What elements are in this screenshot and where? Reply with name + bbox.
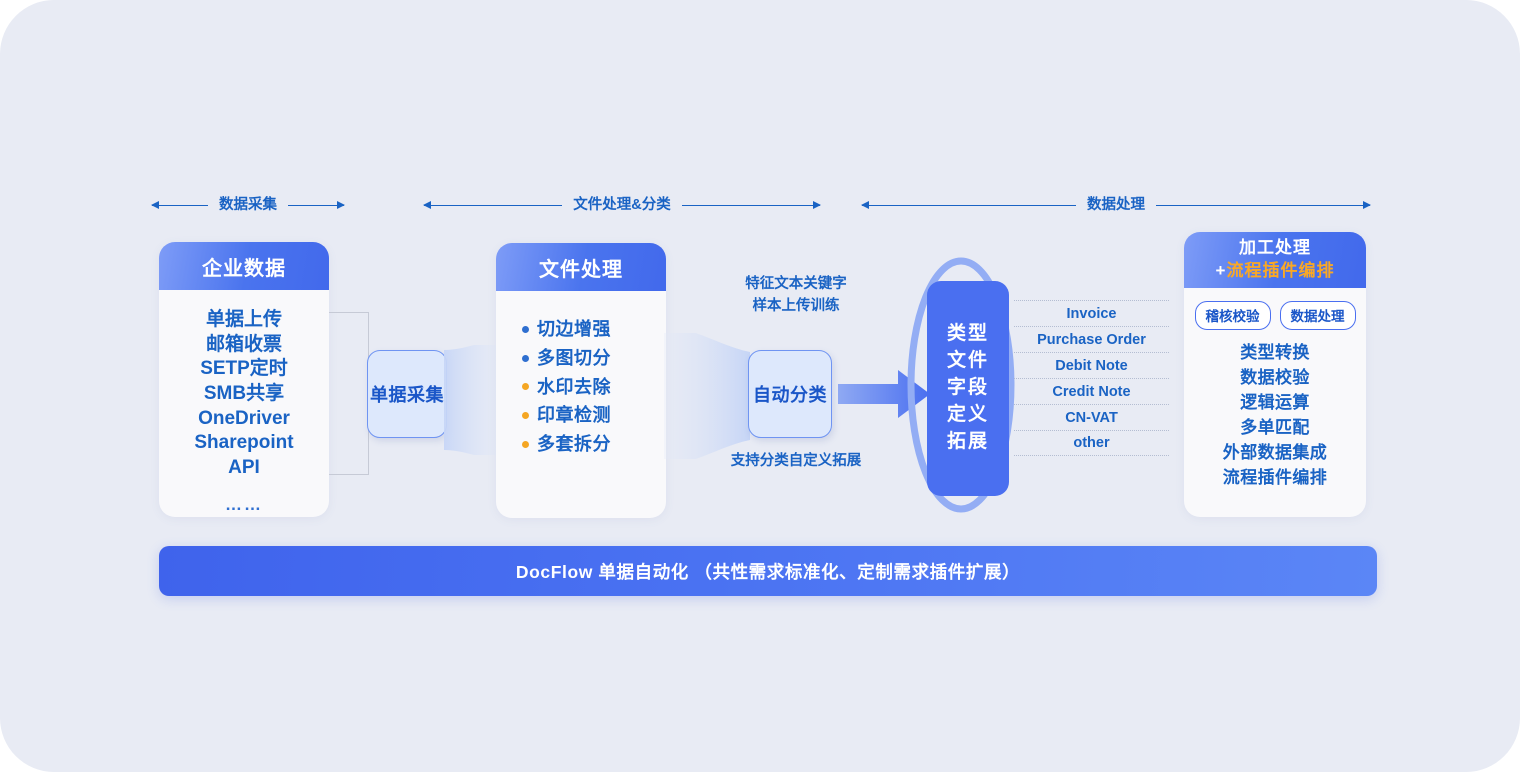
list-item: 数据校验 bbox=[1184, 366, 1366, 391]
classify-note-bottom: 支持分类自定义拓展 bbox=[716, 450, 876, 472]
node-auto-classification[interactable]: 自动分类 bbox=[748, 350, 832, 438]
bullet-dot bbox=[522, 326, 529, 333]
type-box-line: 文件 bbox=[947, 348, 989, 375]
bullet-dot bbox=[522, 383, 529, 390]
ruler-segment-right bbox=[1156, 205, 1370, 206]
processing-feature-list: 类型转换 数据校验 逻辑运算 多单匹配 外部数据集成 流程插件编排 bbox=[1184, 341, 1366, 491]
plus-sign: + bbox=[1216, 261, 1227, 280]
list-item: SMB共享 bbox=[159, 382, 329, 407]
classify-note-top-line2: 样本上传训练 bbox=[720, 295, 872, 317]
list-item: 切边增强 bbox=[522, 315, 666, 344]
type-box-line: 拓展 bbox=[947, 429, 989, 456]
list-item: Debit Note bbox=[1014, 352, 1169, 378]
list-item: SETP定时 bbox=[159, 357, 329, 382]
processing-chip-group: 稽核校验 数据处理 bbox=[1184, 301, 1366, 330]
list-ellipsis: …… bbox=[159, 494, 329, 516]
chip-audit-verification[interactable]: 稽核校验 bbox=[1195, 301, 1271, 330]
enterprise-data-card[interactable]: 企业数据 单据上传 邮箱收票 SETP定时 SMB共享 OneDriver Sh… bbox=[159, 242, 329, 517]
classify-note-top: 特征文本关键字 样本上传训练 bbox=[720, 273, 872, 318]
list-item: 外部数据集成 bbox=[1184, 441, 1366, 466]
list-item: 多套拆分 bbox=[522, 430, 666, 459]
file-processing-card-title: 文件处理 bbox=[496, 243, 666, 291]
diagram-canvas: 数据采集 文件处理&分类 数据处理 企业数据 单据上传 邮箱收票 SETP定时 … bbox=[0, 0, 1520, 772]
bullet-dot bbox=[522, 355, 529, 362]
bottom-banner: DocFlow 单据自动化 （共性需求标准化、定制需求插件扩展） bbox=[159, 546, 1377, 596]
list-item: 多图切分 bbox=[522, 344, 666, 373]
phase-ruler-data-collection: 数据采集 bbox=[152, 192, 344, 218]
type-box-line: 字段 bbox=[947, 375, 989, 402]
list-item: Credit Note bbox=[1014, 378, 1169, 404]
bracket-connector bbox=[329, 312, 369, 475]
phase-ruler-file-processing: 文件处理&分类 bbox=[424, 192, 820, 218]
list-item: 水印去除 bbox=[522, 373, 666, 402]
phase-ruler-label: 数据处理 bbox=[1076, 198, 1156, 213]
file-processing-feature-list: 切边增强 多图切分 水印去除 印章检测 多套拆分 bbox=[496, 315, 666, 459]
list-item: 逻辑运算 bbox=[1184, 391, 1366, 416]
processing-card-title-highlight: 流程插件编排 bbox=[1226, 261, 1334, 280]
ruler-segment-left bbox=[424, 205, 562, 206]
ruler-segment-left bbox=[152, 205, 208, 206]
list-item: Sharepoint bbox=[159, 431, 329, 456]
phase-ruler-label: 数据采集 bbox=[208, 198, 288, 213]
list-item: other bbox=[1014, 430, 1169, 456]
list-item: 单据上传 bbox=[159, 308, 329, 333]
bullet-dot bbox=[522, 441, 529, 448]
ruler-segment-right bbox=[288, 205, 344, 206]
list-item: 印章检测 bbox=[522, 401, 666, 430]
list-item-label: 切边增强 bbox=[537, 315, 611, 344]
list-item: 多单匹配 bbox=[1184, 416, 1366, 441]
processing-card-title-line1: 加工处理 bbox=[1239, 237, 1311, 260]
enterprise-data-card-title: 企业数据 bbox=[159, 242, 329, 290]
type-box-line: 定义 bbox=[947, 402, 989, 429]
file-processing-card[interactable]: 文件处理 切边增强 多图切分 水印去除 印章检测 多套拆分 bbox=[496, 243, 666, 518]
bullet-dot bbox=[522, 412, 529, 419]
type-definition-box[interactable]: 类型 文件 字段 定义 拓展 bbox=[927, 281, 1009, 496]
flow-ribbon-collect-to-fileproc bbox=[444, 345, 502, 455]
list-item-label: 多套拆分 bbox=[537, 430, 611, 459]
node-data-collection[interactable]: 单据采集 bbox=[367, 350, 447, 438]
phase-ruler-label: 文件处理&分类 bbox=[562, 198, 681, 213]
processing-card-title-line2: +流程插件编排 bbox=[1216, 260, 1335, 283]
document-type-list: Invoice Purchase Order Debit Note Credit… bbox=[1014, 300, 1169, 456]
flow-ribbon-fileproc-to-classify bbox=[664, 333, 750, 459]
list-item: 流程插件编排 bbox=[1184, 466, 1366, 491]
chip-data-processing[interactable]: 数据处理 bbox=[1280, 301, 1356, 330]
enterprise-data-source-list: 单据上传 邮箱收票 SETP定时 SMB共享 OneDriver Sharepo… bbox=[159, 290, 329, 516]
classify-note-top-line1: 特征文本关键字 bbox=[720, 273, 872, 295]
ruler-segment-left bbox=[862, 205, 1076, 206]
list-item: Purchase Order bbox=[1014, 326, 1169, 352]
list-item-label: 水印去除 bbox=[537, 373, 611, 402]
list-item: 邮箱收票 bbox=[159, 333, 329, 358]
list-item: 类型转换 bbox=[1184, 341, 1366, 366]
type-box-line: 类型 bbox=[947, 321, 989, 348]
phase-ruler-data-processing: 数据处理 bbox=[862, 192, 1370, 218]
processing-card-title: 加工处理 +流程插件编排 bbox=[1184, 232, 1366, 288]
list-item: Invoice bbox=[1014, 300, 1169, 326]
list-item: OneDriver bbox=[159, 407, 329, 432]
ruler-segment-right bbox=[682, 205, 820, 206]
list-item-label: 多图切分 bbox=[537, 344, 611, 373]
list-item: API bbox=[159, 456, 329, 481]
list-item: CN-VAT bbox=[1014, 404, 1169, 430]
processing-card[interactable]: 加工处理 +流程插件编排 稽核校验 数据处理 类型转换 数据校验 逻辑运算 多单… bbox=[1184, 232, 1366, 517]
list-item-label: 印章检测 bbox=[537, 401, 611, 430]
